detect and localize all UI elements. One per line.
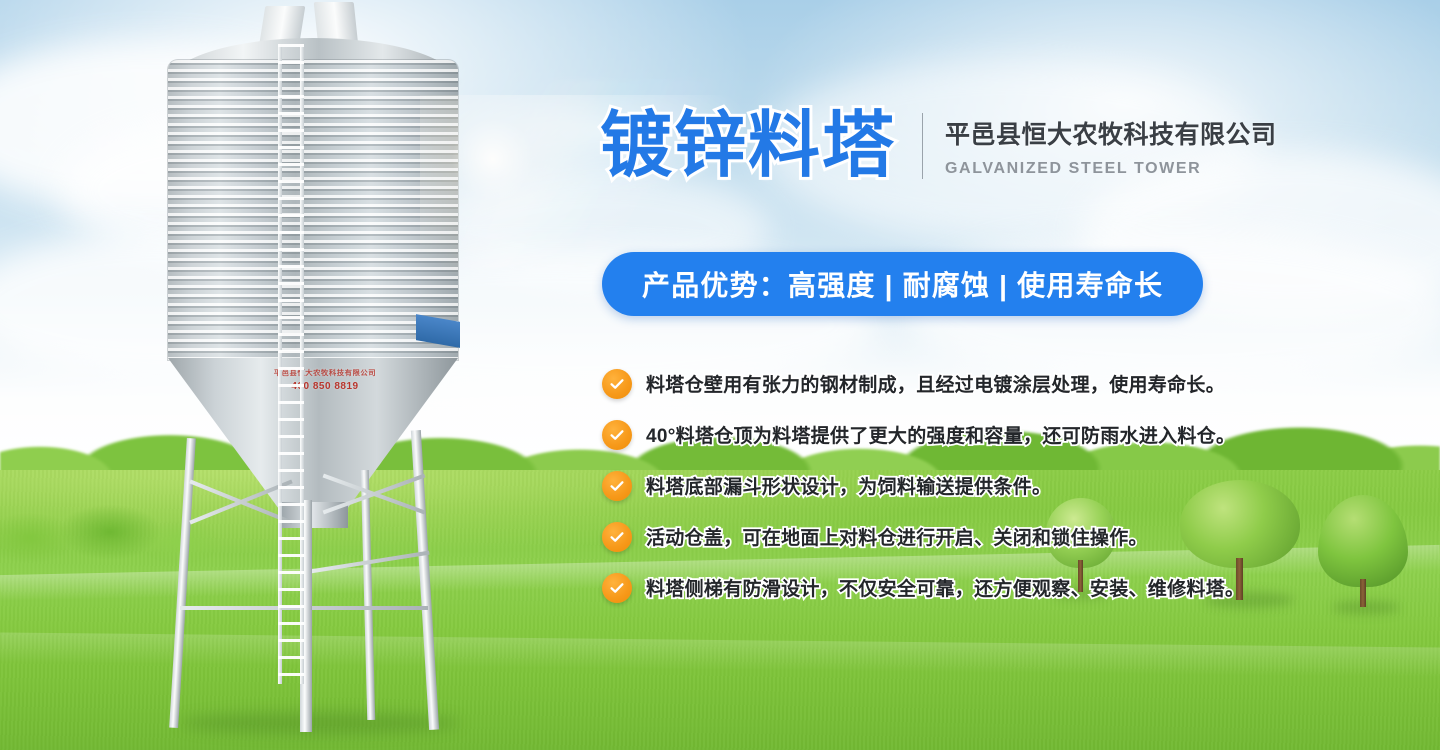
- silo-barrel: [168, 60, 458, 360]
- tree: [1318, 495, 1408, 605]
- list-item: 40°料塔仓顶为料塔提供了更大的强度和容量，还可防雨水进入料仓。: [602, 409, 1318, 460]
- list-item: 料塔底部漏斗形状设计，为饲料输送提供条件。: [602, 460, 1318, 511]
- feature-text: 料塔底部漏斗形状设计，为饲料输送提供条件。: [646, 472, 1051, 499]
- check-circle-icon: [602, 573, 632, 603]
- company-name-cn: 平邑县恒大农牧科技有限公司: [945, 115, 1277, 151]
- company-block: 平邑县恒大农牧科技有限公司 GALVANIZED STEEL TOWER: [945, 115, 1277, 178]
- check-circle-icon: [602, 369, 632, 399]
- silo-ground-shadow: [180, 712, 460, 734]
- page-title: 镀锌料塔: [600, 110, 896, 182]
- headline-row: 镀锌料塔 平邑县恒大农牧科技有限公司 GALVANIZED STEEL TOWE…: [600, 110, 1277, 182]
- list-item: 料塔仓壁用有张力的钢材制成，且经过电镀涂层处理，使用寿命长。: [602, 358, 1318, 409]
- silo-support-leg: [411, 430, 439, 730]
- list-item: 活动仓盖，可在地面上对料仓进行开启、关闭和锁住操作。: [602, 511, 1318, 562]
- check-circle-icon: [602, 420, 632, 450]
- ladder-rungs: [278, 44, 304, 684]
- promo-banner: 平邑县恒大农牧科技有限公司 400 850 8819 镀锌料塔 平邑县恒大农牧科…: [0, 0, 1440, 750]
- silo-support-leg: [361, 470, 376, 720]
- check-circle-icon: [602, 522, 632, 552]
- product-image-silo: 平邑县恒大农牧科技有限公司 400 850 8819: [120, 0, 520, 750]
- feature-list: 料塔仓壁用有张力的钢材制成，且经过电镀涂层处理，使用寿命长。 40°料塔仓顶为料…: [602, 358, 1318, 613]
- product-advantage-pill: 产品优势：高强度 | 耐腐蚀 | 使用寿命长: [602, 252, 1203, 316]
- product-advantage-text: 产品优势：高强度 | 耐腐蚀 | 使用寿命长: [642, 264, 1163, 304]
- tree-shadow: [1332, 601, 1400, 614]
- feature-text: 活动仓盖，可在地面上对料仓进行开启、关闭和锁住操作。: [646, 523, 1148, 550]
- company-name-en: GALVANIZED STEEL TOWER: [945, 160, 1277, 178]
- list-item: 料塔侧梯有防滑设计，不仅安全可靠，还方便观察、安装、维修料塔。: [602, 562, 1318, 613]
- banner-content: 镀锌料塔 平邑县恒大农牧科技有限公司 GALVANIZED STEEL TOWE…: [600, 0, 1320, 750]
- check-circle-icon: [602, 471, 632, 501]
- feature-text: 40°料塔仓顶为料塔提供了更大的强度和容量，还可防雨水进入料仓。: [646, 421, 1235, 448]
- title-divider: [922, 113, 923, 179]
- tree-crown: [1318, 495, 1408, 587]
- tree-trunk: [1360, 579, 1366, 607]
- silo-side-ladder: [278, 44, 304, 684]
- feature-text: 料塔侧梯有防滑设计，不仅安全可靠，还方便观察、安装、维修料塔。: [646, 574, 1244, 601]
- feature-text: 料塔仓壁用有张力的钢材制成，且经过电镀涂层处理，使用寿命长。: [646, 370, 1225, 397]
